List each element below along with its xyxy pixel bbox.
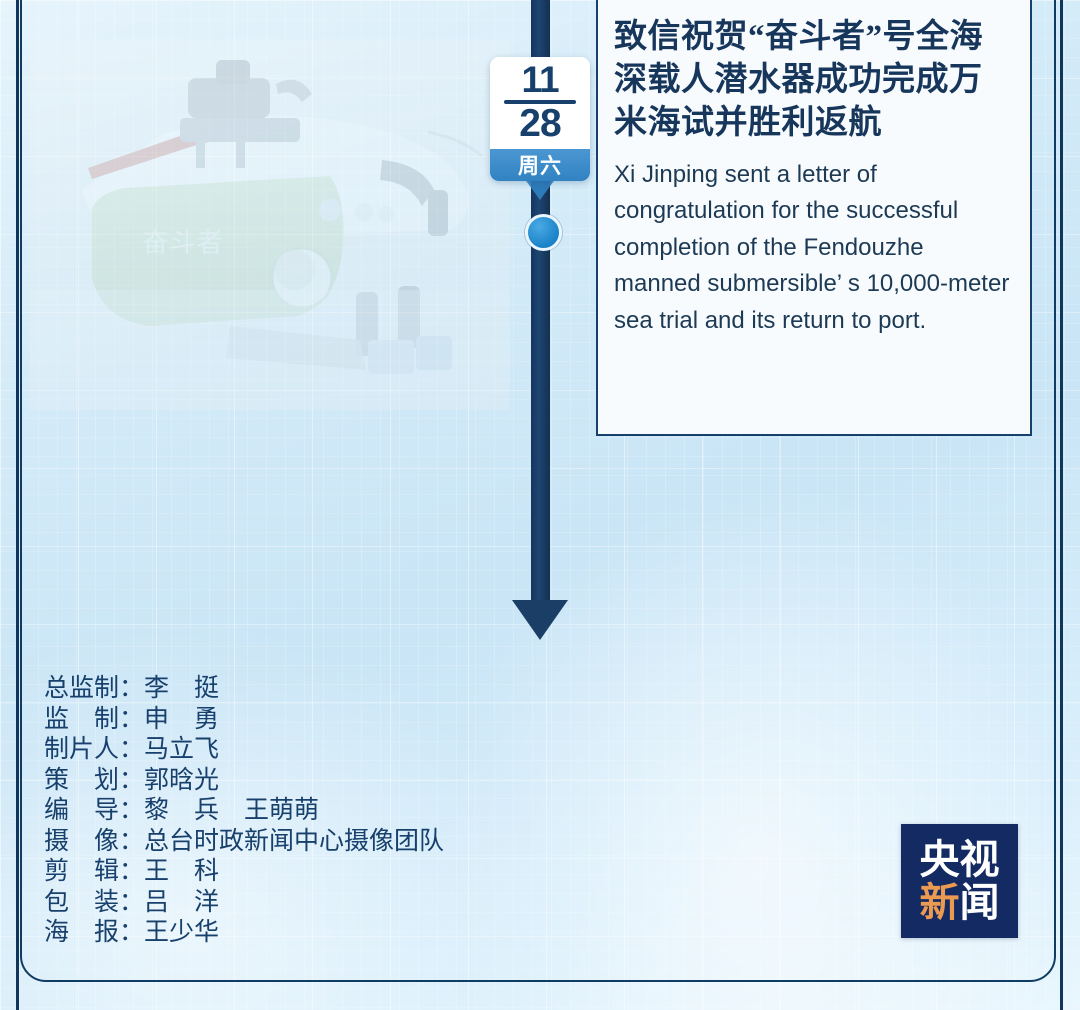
right-edge-rule	[1060, 0, 1063, 1010]
credit-line: 监 制：申 勇	[44, 704, 444, 735]
date-badge-notch-icon	[524, 178, 556, 200]
date-badge-month: 11	[521, 62, 558, 97]
timeline-arrow-icon	[512, 600, 568, 640]
credit-line: 剪 辑：王 科	[44, 856, 444, 887]
logo-text-xin: 新	[920, 883, 960, 923]
logo-text-wen: 闻	[960, 883, 1000, 923]
logo-text-yangshi: 央视	[920, 840, 1000, 880]
credit-line: 包 装：吕 洋	[44, 887, 444, 918]
date-badge-day: 28	[519, 105, 560, 142]
logo-line-two: 新 闻	[920, 883, 1000, 923]
credits-block: 总监制：李 挺 监 制：申 勇 制片人：马立飞 策 划：郭晗光 编 导：黎 兵 …	[44, 673, 444, 948]
logo-line-one: 央视	[920, 840, 1000, 880]
left-edge-rule	[16, 0, 19, 1010]
credit-line: 策 划：郭晗光	[44, 765, 444, 796]
credit-line: 海 报：王少华	[44, 917, 444, 948]
credit-line: 总监制：李 挺	[44, 673, 444, 704]
svg-text:奋斗者: 奋斗者	[142, 228, 223, 259]
timeline-marker-dot[interactable]	[525, 214, 562, 251]
cctv-news-logo: 央视 新 闻	[901, 824, 1018, 938]
news-headline-chinese: 致信祝贺“奋斗者”号全海深载人潜水器成功完成万米海试并胜利返航	[614, 16, 1012, 145]
news-card: 致信祝贺“奋斗者”号全海深载人潜水器成功完成万米海试并胜利返航 Xi Jinpi…	[596, 0, 1032, 436]
news-poster: 奋斗者	[0, 0, 1080, 1010]
date-badge[interactable]: 11 28 周六	[490, 57, 590, 181]
submersible-photo: 奋斗者	[30, 40, 510, 410]
news-summary-english: Xi Jinping sent a letter of congratulati…	[614, 157, 1012, 339]
credit-line: 制片人：马立飞	[44, 734, 444, 765]
credit-line: 编 导：黎 兵 王萌萌	[44, 795, 444, 826]
date-badge-weekday: 周六	[490, 149, 590, 181]
date-badge-top: 11 28	[490, 57, 590, 149]
credit-line: 摄 像：总台时政新闻中心摄像团队	[44, 826, 444, 857]
